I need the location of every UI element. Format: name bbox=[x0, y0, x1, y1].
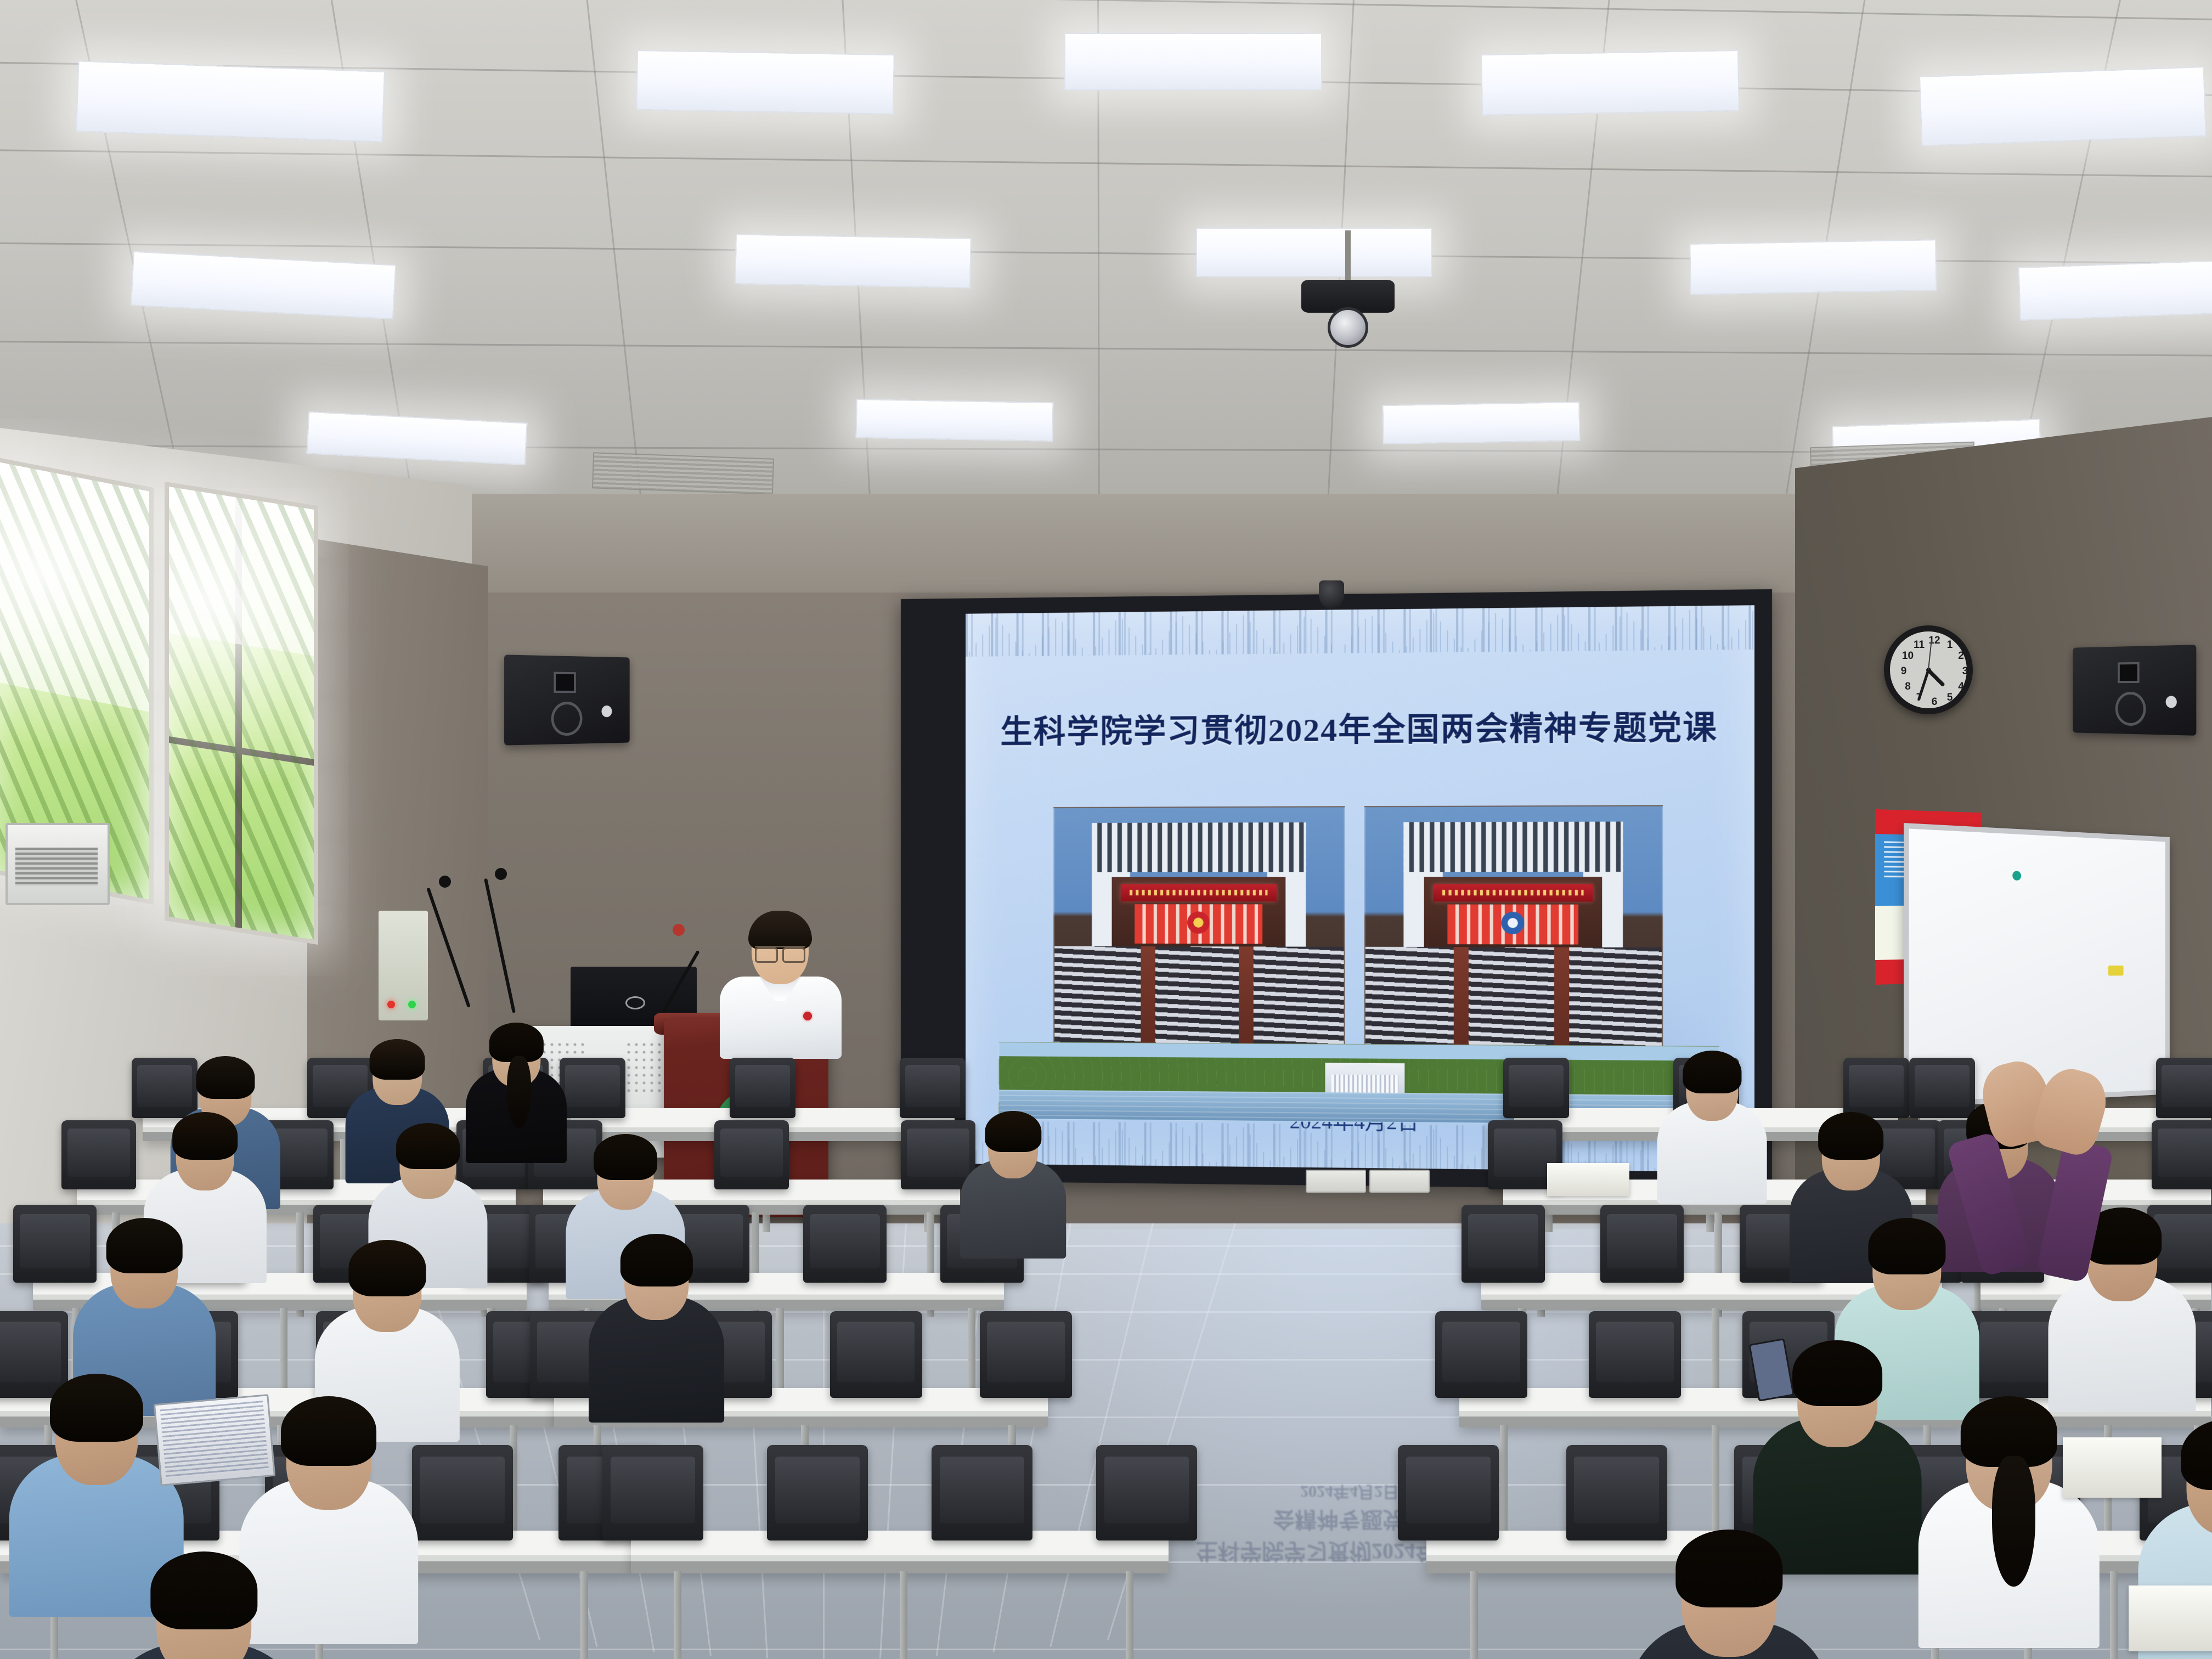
power-led-green-icon bbox=[408, 1001, 416, 1008]
cppcc-session-photo bbox=[1364, 805, 1663, 1059]
desk-leg bbox=[1126, 1571, 1133, 1659]
slide-title: 生科学院学习贯彻2024年全国两会精神专题党课 bbox=[966, 701, 1754, 753]
magnet-icon[interactable] bbox=[2012, 871, 2021, 881]
office-chair[interactable] bbox=[803, 1205, 887, 1283]
raised-arm-right bbox=[2036, 1138, 2114, 1283]
floor-tile-seam bbox=[0, 1649, 2212, 1650]
magnet-icon[interactable] bbox=[2108, 966, 2124, 975]
office-chair[interactable] bbox=[1503, 1058, 1569, 1118]
office-chair[interactable] bbox=[61, 1120, 136, 1189]
clock-numeral: 1 bbox=[1944, 639, 1956, 651]
ceiling-grid-line bbox=[0, 340, 2212, 357]
office-chair[interactable] bbox=[830, 1311, 922, 1398]
raised-arm-left bbox=[1946, 1131, 2032, 1277]
office-chair[interactable] bbox=[714, 1120, 789, 1189]
desk-leg bbox=[2110, 1571, 2118, 1659]
audience-member bbox=[955, 1103, 1071, 1256]
microphone-head-icon bbox=[495, 868, 507, 880]
audience-hair bbox=[594, 1134, 657, 1181]
window-left-inner bbox=[165, 482, 318, 945]
national-emblem-icon bbox=[1187, 912, 1210, 934]
cppcc-banner bbox=[1433, 884, 1593, 902]
ceiling-light-panel bbox=[2018, 259, 2212, 321]
audience-hair bbox=[2181, 1419, 2212, 1491]
projection-screen-surface: 生科学院学习贯彻2024年全国两会精神专题党课 bbox=[966, 605, 1754, 1172]
microphone-head-icon bbox=[673, 924, 685, 936]
ceiling-light-panel bbox=[1064, 33, 1322, 91]
office-chair[interactable] bbox=[767, 1445, 868, 1541]
office-chair[interactable] bbox=[1435, 1311, 1527, 1398]
cppcc-emblem-icon bbox=[1501, 912, 1524, 934]
ceiling-light-panel bbox=[855, 399, 1053, 442]
clock-numeral: 4 bbox=[1955, 681, 1967, 693]
clock-hour-hand bbox=[1927, 669, 1945, 687]
clock-numeral: 8 bbox=[1902, 681, 1914, 693]
ceiling-light-panel bbox=[76, 60, 385, 142]
audience-hair bbox=[49, 1374, 143, 1442]
wall-outlet[interactable] bbox=[1306, 1170, 1366, 1193]
ceiling-light-panel bbox=[1382, 402, 1580, 444]
wall-clock: 121234567891011 bbox=[1884, 625, 1973, 714]
office-chair[interactable] bbox=[1600, 1205, 1684, 1283]
office-chair[interactable] bbox=[602, 1445, 703, 1541]
ceiling-light-panel bbox=[306, 411, 528, 466]
power-led-red-icon bbox=[387, 1001, 395, 1008]
office-chair[interactable] bbox=[1462, 1205, 1545, 1283]
presenter-at-podium bbox=[716, 915, 843, 1047]
slide-border-top bbox=[966, 605, 1754, 657]
audience-member bbox=[1651, 1042, 1773, 1201]
speaker-woofer-icon bbox=[2115, 692, 2146, 726]
microphone-head-icon bbox=[439, 876, 451, 888]
student-desk bbox=[631, 1531, 1169, 1573]
back-wall-upper-band bbox=[439, 494, 1821, 592]
window-blind[interactable] bbox=[169, 487, 314, 656]
ceiling-light-panel bbox=[1689, 239, 1937, 295]
laptop[interactable] bbox=[154, 1394, 275, 1486]
notebook[interactable] bbox=[2129, 1585, 2212, 1651]
office-chair[interactable] bbox=[1096, 1445, 1197, 1541]
lecture-hall-photograph: 生科学院学习贯彻2024年全国两会精神专题党课 bbox=[0, 0, 2212, 1659]
desk-leg bbox=[580, 1571, 588, 1659]
window-blind[interactable] bbox=[0, 461, 149, 712]
office-chair[interactable] bbox=[1589, 1311, 1681, 1398]
campus-building bbox=[1325, 1063, 1404, 1094]
audience-hair bbox=[106, 1218, 183, 1273]
npc-banner bbox=[1120, 884, 1277, 902]
desk-leg bbox=[900, 1571, 907, 1659]
audience-hair bbox=[1683, 1051, 1741, 1093]
office-chair[interactable] bbox=[932, 1445, 1032, 1541]
ceiling-air-vent bbox=[592, 452, 774, 494]
speaker-woofer-icon bbox=[551, 702, 583, 736]
speaker-tweeter-icon bbox=[554, 672, 575, 692]
projection-screen-housing: 生科学院学习贯彻2024年全国两会精神专题党课 bbox=[901, 589, 1772, 1190]
ceiling-light-panel bbox=[735, 234, 972, 288]
audience-hair bbox=[985, 1111, 1041, 1152]
wall-ac-vent bbox=[15, 848, 98, 886]
audience-hair bbox=[150, 1551, 257, 1630]
notebook[interactable] bbox=[1547, 1163, 1629, 1196]
audience-hair bbox=[196, 1056, 255, 1099]
ceiling-camera-icon bbox=[1319, 580, 1344, 609]
audience-hair bbox=[1818, 1112, 1884, 1160]
wall-outlet[interactable] bbox=[1369, 1170, 1430, 1193]
audio-mixer[interactable] bbox=[379, 911, 428, 1020]
slide-photo-row bbox=[1046, 805, 1671, 1059]
yamaha-logo-icon bbox=[2162, 693, 2181, 710]
office-chair[interactable] bbox=[980, 1311, 1072, 1398]
audience-hair bbox=[1675, 1530, 1782, 1608]
audience-hair bbox=[1868, 1218, 1945, 1274]
audience-member-stretching bbox=[1953, 1075, 2211, 1306]
office-chair[interactable] bbox=[1398, 1445, 1499, 1541]
ceiling-light-panel bbox=[1196, 228, 1432, 277]
clock-numeral: 6 bbox=[1928, 696, 1940, 708]
audience-hair bbox=[1792, 1340, 1882, 1406]
audience-member bbox=[1618, 1514, 1839, 1659]
audience-hair bbox=[281, 1396, 376, 1466]
ceiling-grid-line bbox=[0, 148, 2212, 179]
ceiling-light-panel bbox=[1919, 66, 2207, 146]
projector-mount-stem bbox=[1345, 230, 1351, 285]
audience-member bbox=[1909, 1383, 2109, 1644]
audience-member bbox=[93, 1536, 314, 1659]
audience-hair bbox=[348, 1240, 426, 1296]
audience-hair bbox=[172, 1112, 238, 1160]
clock-numeral: 2 bbox=[1955, 650, 1967, 662]
office-chair[interactable] bbox=[730, 1058, 795, 1118]
notebook[interactable] bbox=[2063, 1437, 2162, 1498]
ceiling-light-panel bbox=[636, 50, 895, 115]
lapel-pin-icon bbox=[803, 1012, 812, 1020]
ceiling-light-panel bbox=[1481, 50, 1740, 116]
desk-leg bbox=[1470, 1571, 1478, 1659]
npc-session-photo bbox=[1053, 806, 1345, 1057]
ponytail bbox=[1992, 1456, 2035, 1587]
audience-member bbox=[582, 1223, 731, 1419]
clock-numeral: 9 bbox=[1898, 665, 1910, 678]
presenter-hair bbox=[748, 911, 812, 949]
projector-lens-icon bbox=[1328, 307, 1368, 348]
audience-hair bbox=[370, 1039, 425, 1080]
eyeglasses-icon bbox=[755, 946, 805, 958]
speaker-left bbox=[504, 654, 630, 745]
speaker-tweeter-icon bbox=[2118, 662, 2139, 683]
ceiling-light-panel bbox=[131, 251, 397, 320]
desk-leg bbox=[674, 1571, 681, 1659]
ponytail bbox=[507, 1056, 531, 1129]
clock-numeral: 10 bbox=[1902, 650, 1914, 662]
audience-hair bbox=[396, 1123, 460, 1170]
yamaha-logo-icon bbox=[598, 703, 616, 720]
speaker-right bbox=[2073, 645, 2196, 736]
clock-numeral: 11 bbox=[1913, 639, 1925, 651]
clock-numeral: 5 bbox=[1944, 692, 1956, 704]
clock-numeral: 3 bbox=[1959, 665, 1971, 678]
audience-hair bbox=[620, 1234, 692, 1287]
